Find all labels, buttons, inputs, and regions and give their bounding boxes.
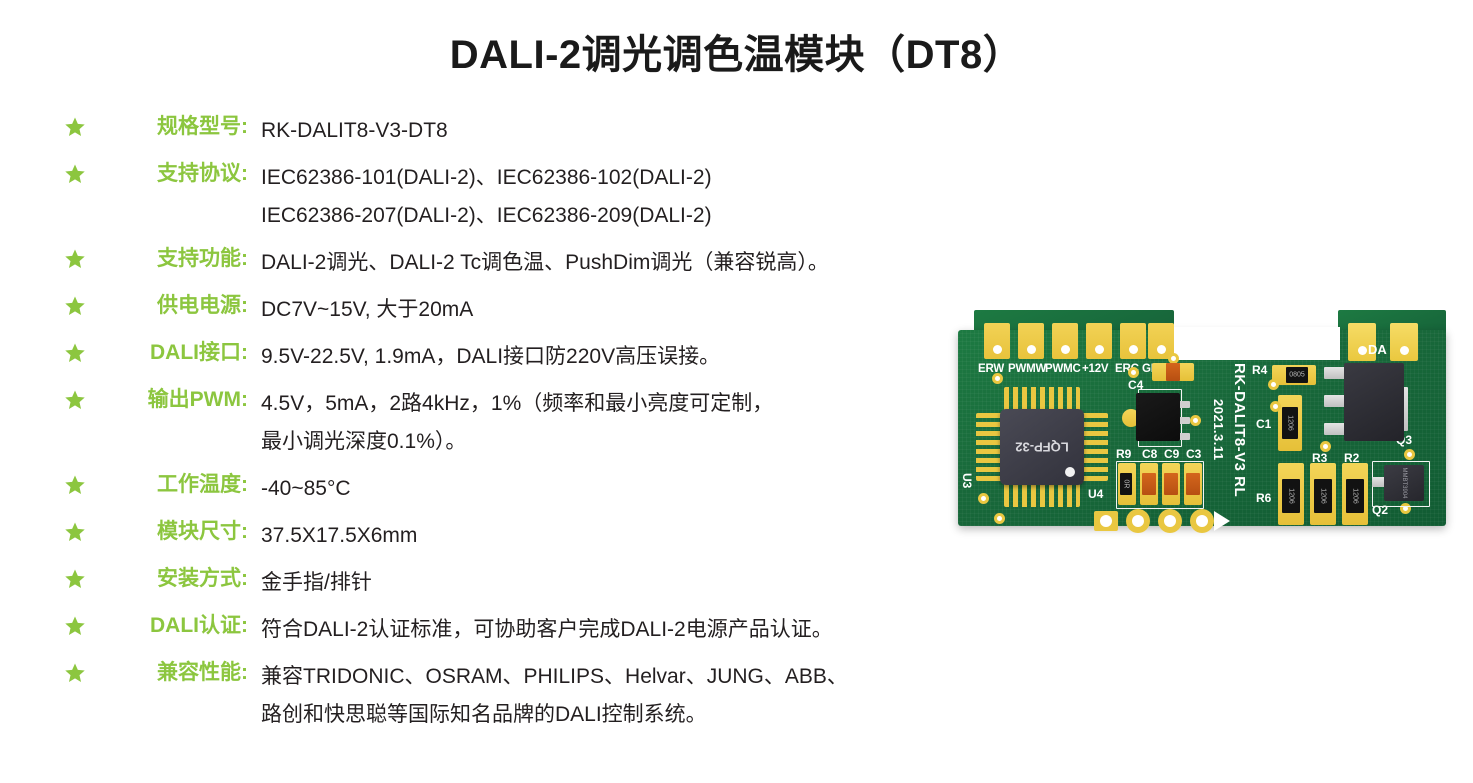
pcb-chip-pin1-dot bbox=[1065, 467, 1075, 477]
spec-label-dali-certification: DALI认证: bbox=[100, 611, 248, 641]
pcb-resistor-r4: 0805 bbox=[1286, 367, 1308, 383]
spec-value-pwm-output: 4.5V，5mA，2路4kHz，1%（频率和最小亮度可定制， 最小调光深度0.1… bbox=[248, 385, 1024, 461]
spec-value-dali-certification: 符合DALI-2认证标准，可协助客户完成DALI-2电源产品认证。 bbox=[248, 611, 1024, 649]
pcb-resistor-r3: 1206 bbox=[1314, 479, 1332, 513]
spec-value-compatibility: 兼容TRIDONIC、OSRAM、PHILIPS、Helvar、JUNG、ABB… bbox=[248, 658, 1024, 734]
spec-label-operating-temperature: 工作温度: bbox=[100, 470, 248, 500]
pcb-cap-c8 bbox=[1142, 473, 1156, 495]
spec-value-line: IEC62386-207(DALI-2)、IEC62386-209(DALI-2… bbox=[261, 197, 1024, 235]
spec-value-line: 最小调光深度0.1%）。 bbox=[261, 423, 1024, 461]
pcb-product-image: ERW PWMW PWMC +12V ERC GND DA LQFP-32 U3… bbox=[952, 305, 1452, 540]
spec-row-protocols: 支持协议: IEC62386-101(DALI-2)、IEC62386-102(… bbox=[64, 159, 1024, 235]
spec-row-functions: 支持功能: DALI-2调光、DALI-2 Tc调色温、PushDim调光（兼容… bbox=[64, 244, 1024, 282]
pcb-silk-date: 2021.3.11 bbox=[1211, 399, 1226, 461]
page-title: DALI-2调光调色温模块（DT8） bbox=[0, 22, 1473, 80]
star-icon bbox=[64, 568, 86, 590]
pcb-board: ERW PWMW PWMC +12V ERC GND DA LQFP-32 U3… bbox=[952, 305, 1452, 540]
star-icon bbox=[64, 295, 86, 317]
spec-value-line: 37.5X17.5X6mm bbox=[261, 517, 1024, 555]
pcb-designator-c3: C3 bbox=[1186, 447, 1201, 461]
star-cell bbox=[64, 244, 100, 270]
spec-row-pwm-output: 输出PWM: 4.5V，5mA，2路4kHz，1%（频率和最小亮度可定制， 最小… bbox=[64, 385, 1024, 461]
spec-value-line: DALI-2调光、DALI-2 Tc调色温、PushDim调光（兼容锐高）。 bbox=[261, 244, 1024, 282]
pcb-resistor-r6: 1206 bbox=[1282, 479, 1300, 513]
spec-value-line: 金手指/排针 bbox=[261, 564, 1024, 602]
pcb-resistor-r2: 1206 bbox=[1346, 479, 1364, 513]
pcb-designator-r4: R4 bbox=[1252, 363, 1267, 377]
pcb-marking-r4: 0805 bbox=[1289, 372, 1305, 379]
spec-value-operating-temperature: -40~85°C bbox=[248, 470, 1024, 508]
spec-value-dali-interface: 9.5V-22.5V, 1.9mA，DALI接口防220V高压误接。 bbox=[248, 338, 1024, 376]
pcb-marking-r2: 1206 bbox=[1352, 488, 1359, 504]
pcb-chip-pins-left bbox=[976, 413, 1002, 481]
pcb-via-5 bbox=[978, 493, 989, 504]
pcb-marking-r9: 0R bbox=[1123, 480, 1130, 489]
spec-label-compatibility: 兼容性能: bbox=[100, 658, 248, 688]
spec-label-dali-interface: DALI接口: bbox=[100, 338, 248, 368]
spec-label-module-size: 模块尺寸: bbox=[100, 517, 248, 547]
spec-row-power-supply: 供电电源: DC7V~15V, 大于20mA bbox=[64, 291, 1024, 329]
spec-value-functions: DALI-2调光、DALI-2 Tc调色温、PushDim调光（兼容锐高）。 bbox=[248, 244, 1024, 282]
star-cell bbox=[64, 611, 100, 637]
star-cell bbox=[64, 658, 100, 684]
star-cell bbox=[64, 338, 100, 364]
pcb-pin-label-da: DA bbox=[1368, 342, 1387, 357]
pcb-chip-pins-bottom bbox=[1004, 483, 1080, 507]
pcb-marking-r3: 1206 bbox=[1320, 488, 1327, 504]
pcb-pin-label-12v: +12V bbox=[1082, 363, 1108, 375]
star-cell bbox=[64, 112, 100, 138]
pcb-pad-12v bbox=[1086, 323, 1112, 359]
pcb-chip-pins-top bbox=[1004, 387, 1080, 411]
pcb-cap-c3 bbox=[1186, 473, 1200, 495]
pcb-chip-pins-right bbox=[1082, 413, 1108, 481]
pcb-pad-da-2 bbox=[1390, 323, 1418, 361]
star-icon bbox=[64, 474, 86, 496]
pcb-chip-marking: LQFP-32 bbox=[1015, 440, 1068, 455]
star-cell bbox=[64, 564, 100, 590]
pcb-pad-pwmc bbox=[1052, 323, 1078, 359]
pcb-pad-erc bbox=[1120, 323, 1146, 359]
spec-value-line: -40~85°C bbox=[261, 470, 1024, 508]
pcb-designator-c8: C8 bbox=[1142, 447, 1157, 461]
pcb-via-10 bbox=[1404, 449, 1415, 460]
pcb-designator-r9: R9 bbox=[1116, 447, 1131, 461]
spec-row-mounting: 安装方式: 金手指/排针 bbox=[64, 564, 1024, 602]
spec-row-compatibility: 兼容性能: 兼容TRIDONIC、OSRAM、PHILIPS、Helvar、JU… bbox=[64, 658, 1024, 734]
spec-value-line: 符合DALI-2认证标准，可协助客户完成DALI-2电源产品认证。 bbox=[261, 611, 1024, 649]
pcb-pin-label-pwmc: PWMC bbox=[1045, 363, 1081, 375]
pcb-pin-label-pwmw: PWMW bbox=[1008, 363, 1046, 375]
pcb-resistor-r9: 0R bbox=[1120, 473, 1132, 495]
pcb-designator-c9: C9 bbox=[1164, 447, 1179, 461]
star-cell bbox=[64, 385, 100, 411]
star-icon bbox=[64, 248, 86, 270]
pcb-test-pad-1 bbox=[1094, 511, 1118, 531]
spec-row-module-size: 模块尺寸: 37.5X17.5X6mm bbox=[64, 517, 1024, 555]
star-icon bbox=[64, 342, 86, 364]
pcb-q3-lead-1 bbox=[1324, 367, 1346, 379]
pcb-via-4 bbox=[992, 373, 1003, 384]
spec-label-pwm-output: 输出PWM: bbox=[100, 385, 248, 415]
pcb-cap-c4 bbox=[1166, 363, 1180, 381]
pcb-transistor-q2: MMBT3904 bbox=[1384, 465, 1424, 501]
pcb-transistor-q3 bbox=[1344, 363, 1404, 441]
star-icon bbox=[64, 163, 86, 185]
pcb-q3-lead-2 bbox=[1324, 395, 1346, 407]
pcb-chip-lqfp32: LQFP-32 bbox=[1000, 409, 1084, 485]
pcb-via-7 bbox=[1268, 379, 1279, 390]
spec-label-mounting: 安装方式: bbox=[100, 564, 248, 594]
spec-row-dali-certification: DALI认证: 符合DALI-2认证标准，可协助客户完成DALI-2电源产品认证… bbox=[64, 611, 1024, 649]
pcb-marking-r6: 1206 bbox=[1288, 488, 1295, 504]
pcb-designator-r6: R6 bbox=[1256, 491, 1271, 505]
pcb-via-3 bbox=[1190, 415, 1201, 426]
pcb-resistor-c1: 1206 bbox=[1282, 407, 1298, 439]
spec-label-functions: 支持功能: bbox=[100, 244, 248, 274]
spec-value-mounting: 金手指/排针 bbox=[248, 564, 1024, 602]
spec-label-power-supply: 供电电源: bbox=[100, 291, 248, 321]
spec-value-line: IEC62386-101(DALI-2)、IEC62386-102(DALI-2… bbox=[261, 159, 1024, 197]
spec-value-line: 4.5V，5mA，2路4kHz，1%（频率和最小亮度可定制， bbox=[261, 385, 1024, 423]
spec-value-line: 路创和快思聪等国际知名品牌的DALI控制系统。 bbox=[261, 696, 1024, 734]
spec-value-module-size: 37.5X17.5X6mm bbox=[248, 517, 1024, 555]
pcb-chip-soic bbox=[1136, 393, 1180, 441]
star-cell bbox=[64, 517, 100, 543]
specification-list: 规格型号: RK-DALIT8-V3-DT8 支持协议: IEC62386-10… bbox=[64, 112, 1024, 743]
pcb-q3-lead-3 bbox=[1324, 423, 1346, 435]
pcb-via-6 bbox=[994, 513, 1005, 524]
pcb-designator-u3: U3 bbox=[960, 473, 974, 488]
pcb-designator-c1: C1 bbox=[1256, 417, 1271, 431]
pcb-orientation-triangle-icon bbox=[1214, 511, 1230, 531]
pcb-test-pad-2 bbox=[1126, 509, 1150, 533]
spec-value-line: RK-DALIT8-V3-DT8 bbox=[261, 112, 1024, 150]
pcb-designator-u4: U4 bbox=[1088, 487, 1103, 501]
star-icon bbox=[64, 389, 86, 411]
spec-label-model: 规格型号: bbox=[100, 112, 248, 142]
star-icon bbox=[64, 615, 86, 637]
pcb-cap-c9 bbox=[1164, 473, 1178, 495]
pcb-pad-erw bbox=[984, 323, 1010, 359]
star-cell bbox=[64, 470, 100, 496]
pcb-via-8 bbox=[1270, 401, 1281, 412]
pcb-marking-c1: 1206 bbox=[1287, 415, 1294, 431]
spec-value-model: RK-DALIT8-V3-DT8 bbox=[248, 112, 1024, 150]
pcb-marking-q2: MMBT3904 bbox=[1401, 467, 1407, 498]
pcb-via-2 bbox=[1128, 367, 1139, 378]
spec-value-protocols: IEC62386-101(DALI-2)、IEC62386-102(DALI-2… bbox=[248, 159, 1024, 235]
spec-value-line: 兼容TRIDONIC、OSRAM、PHILIPS、Helvar、JUNG、ABB… bbox=[261, 658, 1024, 696]
spec-row-model: 规格型号: RK-DALIT8-V3-DT8 bbox=[64, 112, 1024, 150]
spec-value-line: 9.5V-22.5V, 1.9mA，DALI接口防220V高压误接。 bbox=[261, 338, 1024, 376]
star-cell bbox=[64, 159, 100, 185]
pcb-edge-notch bbox=[1170, 327, 1340, 360]
pcb-test-pad-3 bbox=[1158, 509, 1182, 533]
spec-row-operating-temperature: 工作温度: -40~85°C bbox=[64, 470, 1024, 508]
spec-value-power-supply: DC7V~15V, 大于20mA bbox=[248, 291, 1024, 329]
spec-label-protocols: 支持协议: bbox=[100, 159, 248, 189]
spec-row-dali-interface: DALI接口: 9.5V-22.5V, 1.9mA，DALI接口防220V高压误… bbox=[64, 338, 1024, 376]
star-icon bbox=[64, 116, 86, 138]
star-cell bbox=[64, 291, 100, 317]
star-icon bbox=[64, 521, 86, 543]
pcb-pad-pwmw bbox=[1018, 323, 1044, 359]
spec-value-line: DC7V~15V, 大于20mA bbox=[261, 291, 1024, 329]
pcb-test-pad-4 bbox=[1190, 509, 1214, 533]
star-icon bbox=[64, 662, 86, 684]
pcb-silk-part-number: RK-DALIT8-V3 RL bbox=[1231, 363, 1248, 497]
